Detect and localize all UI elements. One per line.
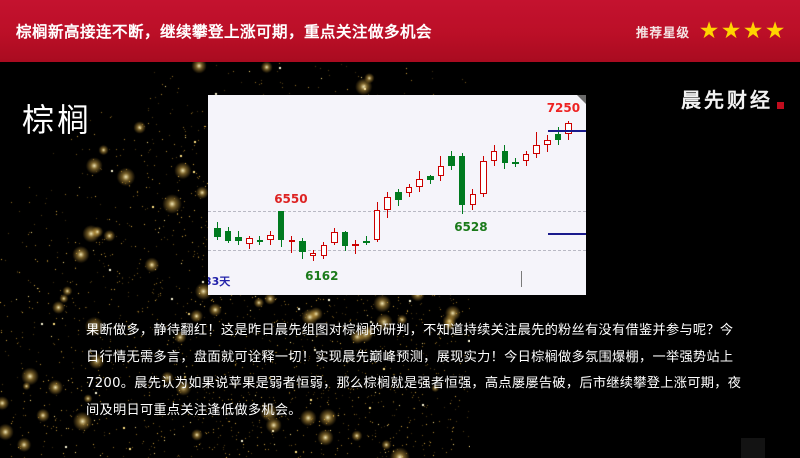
chart-price-annotation: 6162	[305, 269, 338, 283]
candle-body-up	[491, 151, 498, 161]
brand: 晨先财经	[681, 84, 784, 113]
page-title: 棕榈	[22, 95, 92, 141]
candle-body-down	[257, 240, 264, 242]
candle-body-down	[459, 156, 466, 205]
candle-body-up	[533, 145, 540, 154]
chart-gridline	[208, 211, 586, 212]
candle-body-down	[214, 228, 221, 237]
candle-body-up	[565, 123, 572, 133]
star-icon: ★	[742, 20, 764, 42]
star-icon: ★	[720, 20, 742, 42]
star-icon: ★	[698, 20, 720, 42]
candle-wick	[355, 240, 356, 254]
candle-body-up	[544, 140, 551, 145]
candle-body-up	[289, 240, 296, 243]
brand-name: 晨先财经	[681, 84, 773, 113]
candle-body-down	[299, 241, 306, 253]
candle-body-down	[235, 237, 242, 241]
candle-body-up	[523, 154, 530, 161]
candle-body-up	[438, 166, 445, 176]
candle-body-up	[480, 161, 487, 195]
chart-price-annotation: 6528	[454, 220, 487, 234]
chart-price-annotation: 7250	[547, 101, 580, 115]
brand-dot-icon	[777, 102, 784, 109]
commentary-text: 果断做多，静待翻红！这是昨日晨先组图对棕榈的研判，不知道持续关注晨先的粉丝有没有…	[86, 318, 746, 424]
chart-price-marker	[548, 130, 586, 132]
corner-watermark-block	[741, 438, 765, 458]
candle-body-up	[331, 232, 338, 244]
candle-wick	[291, 236, 292, 253]
candle-body-down	[395, 192, 402, 200]
chart-axis-tick	[521, 271, 522, 287]
candle-body-down	[448, 156, 455, 166]
candle-body-up	[310, 253, 317, 257]
star-rating: ★★★★	[698, 20, 786, 42]
candle-body-up	[352, 244, 359, 247]
chart-gridline	[208, 250, 586, 251]
candle-body-up	[321, 245, 328, 257]
candle-body-up	[267, 235, 274, 240]
candle-body-up	[374, 210, 381, 240]
candle-body-up	[384, 197, 391, 210]
candle-body-up	[470, 194, 477, 204]
candle-body-up	[416, 179, 423, 187]
chart-price-marker	[548, 233, 586, 235]
header-title: 棕榈新高接连不断，继续攀登上涨可期，重点关注做多机会	[16, 20, 432, 42]
chart-period-label: 33天	[208, 273, 230, 289]
candle-body-down	[512, 162, 519, 164]
candle-body-down	[427, 176, 434, 180]
candle-body-down	[555, 134, 562, 141]
candle-body-down	[225, 231, 232, 241]
star-icon: ★	[764, 20, 786, 42]
rating-group: 推荐星级 ★★★★	[636, 0, 786, 62]
poster-root: 棕榈新高接连不断，继续攀登上涨可期，重点关注做多机会 推荐星级 ★★★★ 晨先财…	[0, 0, 800, 458]
header-banner: 棕榈新高接连不断，继续攀登上涨可期，重点关注做多机会 推荐星级 ★★★★	[0, 0, 800, 62]
candle-body-down	[278, 211, 285, 239]
rating-label: 推荐星级	[636, 22, 690, 41]
candlestick-chart[interactable]: 6550616265287250 33天	[208, 95, 586, 295]
candle-body-down	[363, 241, 370, 244]
candle-body-up	[246, 238, 253, 243]
candle-body-down	[502, 151, 509, 164]
candle-body-up	[406, 187, 413, 194]
candle-body-down	[342, 232, 349, 246]
chart-price-annotation: 6550	[274, 192, 307, 206]
